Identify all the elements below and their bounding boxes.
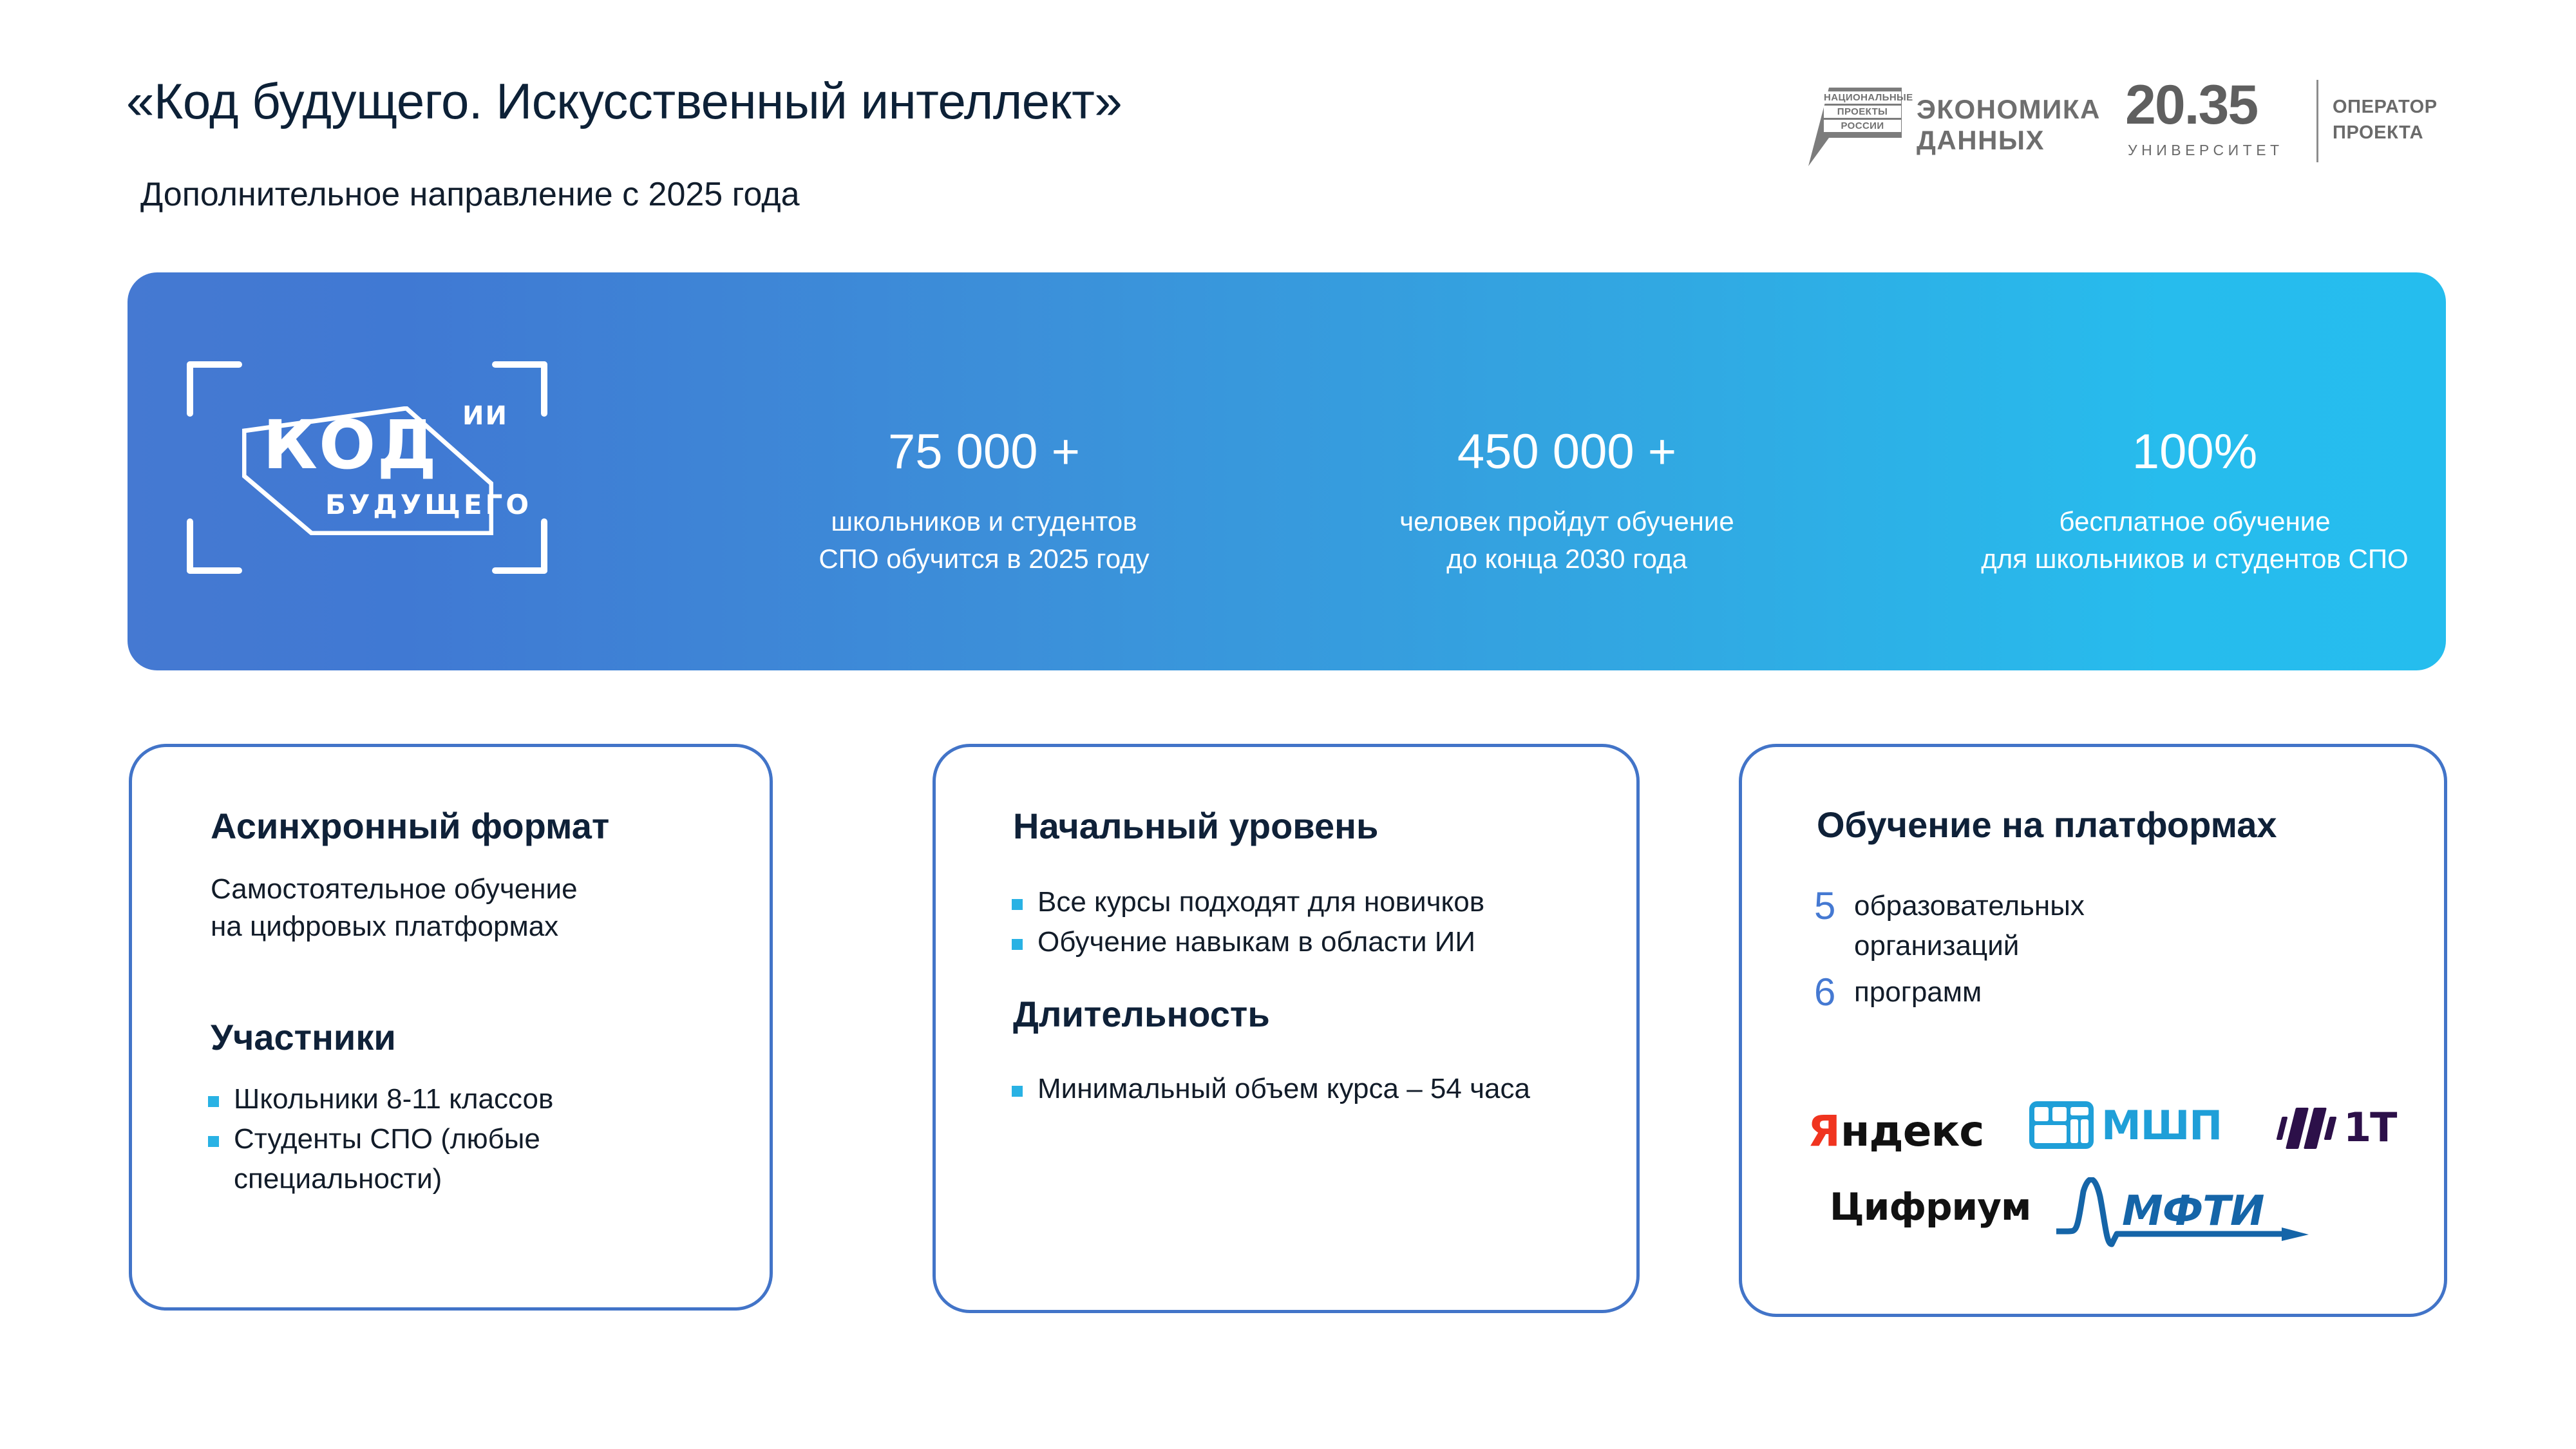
stat-3-desc-line-2: для школьников и студентов СПО bbox=[1905, 540, 2485, 578]
onet-bars-icon bbox=[2278, 1105, 2340, 1150]
np-badge-line-2: ПРОЕКТЫ bbox=[1824, 106, 1901, 118]
count-organizations-number: 5 bbox=[1814, 886, 1854, 926]
partner-logo-mshp: МШП bbox=[2029, 1101, 2222, 1149]
mshp-wordmark: МШП bbox=[2101, 1102, 2222, 1149]
yandex-ya-glyph: Я bbox=[1808, 1106, 1841, 1156]
university-number: 20.35 bbox=[2125, 77, 2257, 133]
page-title: «Код будущего. Искусственный интеллект» bbox=[126, 72, 1122, 131]
card-beginner-level: Начальный уровень Все курсы подходят для… bbox=[933, 744, 1640, 1313]
stat-2-desc-line-1: человек пройдут обучение bbox=[1306, 503, 1828, 540]
logo-text-ii: ИИ bbox=[462, 401, 508, 431]
stat-item-1: 75 000 + школьников и студентов СПО обуч… bbox=[746, 424, 1222, 578]
onet-wordmark: 1Т bbox=[2344, 1104, 2396, 1151]
np-badge-line-3: РОССИИ bbox=[1824, 120, 1901, 132]
card1-heading-participants: Участники bbox=[211, 1016, 396, 1058]
bracket-bottom-left-icon bbox=[187, 518, 242, 574]
card1-paragraph: Самостоятельное обучение на цифровых пла… bbox=[211, 871, 578, 945]
card1-paragraph-line-1: Самостоятельное обучение bbox=[211, 871, 578, 908]
university-2035-logo: 20.35 УНИВЕРСИТЕТ ОПЕРАТОР ПРОЕКТА bbox=[2125, 77, 2409, 174]
stat-1-description: школьников и студентов СПО обучится в 20… bbox=[746, 503, 1222, 578]
card-platforms: Обучение на платформах 5 образовательных… bbox=[1739, 744, 2447, 1317]
count-organizations-label-line-1: образовательных bbox=[1854, 886, 2085, 926]
partner-logo-cifrium: Цифриум bbox=[1830, 1185, 2031, 1229]
stat-item-2: 450 000 + человек пройдут обучение до ко… bbox=[1306, 424, 1828, 578]
card1-participants-list: Школьники 8-11 классов Студенты СПО (люб… bbox=[203, 1079, 731, 1199]
card3-counts: 5 образовательных организаций 6 программ bbox=[1814, 886, 2394, 1019]
mfti-wordmark: МФТИ bbox=[2122, 1188, 2264, 1235]
bracket-bottom-right-icon bbox=[492, 518, 547, 574]
card2-heading-duration: Длительность bbox=[1013, 993, 1270, 1035]
list-item: Обучение навыкам в области ИИ bbox=[1007, 922, 1599, 962]
stat-1-desc-line-1: школьников и студентов bbox=[746, 503, 1222, 540]
stats-banner: КОД ИИ БУДУЩЕГО 75 000 + школьников и ст… bbox=[128, 272, 2446, 670]
page-subtitle: Дополнительное направление с 2025 года bbox=[140, 175, 800, 214]
card3-heading-platforms: Обучение на платформах bbox=[1817, 804, 2277, 846]
list-item: Минимальный объем курса – 54 часа bbox=[1007, 1069, 1586, 1109]
stat-2-desc-line-2: до конца 2030 года bbox=[1306, 540, 1828, 578]
card2-heading-level: Начальный уровень bbox=[1013, 805, 1378, 847]
university-role-line-2: ПРОЕКТА bbox=[2333, 120, 2438, 146]
count-programs-number: 6 bbox=[1814, 972, 1854, 1012]
count-programs-label: программ bbox=[1854, 972, 1982, 1012]
card-asynchronous-format: Асинхронный формат Самостоятельное обуче… bbox=[129, 744, 773, 1311]
yandex-wordmark: ндекс bbox=[1841, 1106, 1984, 1156]
stat-3-description: бесплатное обучение для школьников и сту… bbox=[1905, 503, 2485, 578]
national-projects-logo: НАЦИОНАЛЬНЫЕ ПРОЕКТЫ РОССИИ ЭКОНОМИКА ДА… bbox=[1808, 82, 2079, 166]
stat-3-value: 100% bbox=[1905, 424, 2485, 480]
bracket-top-left-icon bbox=[187, 361, 242, 417]
count-row-organizations: 5 образовательных организаций bbox=[1814, 886, 2394, 966]
count-row-programs: 6 программ bbox=[1814, 972, 2394, 1012]
university-role: ОПЕРАТОР ПРОЕКТА bbox=[2333, 94, 2438, 146]
economy-of-data-wordmark: ЭКОНОМИКА ДАННЫХ bbox=[1917, 94, 2101, 156]
count-organizations-label: образовательных организаций bbox=[1854, 886, 2085, 966]
logo-divider bbox=[2316, 80, 2318, 162]
stat-2-description: человек пройдут обучение до конца 2030 г… bbox=[1306, 503, 1828, 578]
logo-text-kod: КОД bbox=[263, 412, 438, 478]
card2-level-list: Все курсы подходят для новичков Обучение… bbox=[1007, 882, 1599, 962]
np-word-line-2: ДАННЫХ bbox=[1917, 125, 2101, 156]
slide: «Код будущего. Искусственный интеллект» … bbox=[0, 0, 2576, 1449]
stat-item-3: 100% бесплатное обучение для школьников … bbox=[1905, 424, 2485, 578]
partner-logo-yandex: Яндекс bbox=[1808, 1106, 1984, 1156]
national-projects-badges: НАЦИОНАЛЬНЫЕ ПРОЕКТЫ РОССИИ bbox=[1824, 91, 1901, 134]
list-item: Все курсы подходят для новичков bbox=[1007, 882, 1599, 922]
university-word: УНИВЕРСИТЕТ bbox=[2128, 142, 2284, 159]
list-item: Школьники 8-11 классов bbox=[203, 1079, 731, 1119]
stat-3-desc-line-1: бесплатное обучение bbox=[1905, 503, 2485, 540]
card2-duration-list: Минимальный объем курса – 54 часа bbox=[1007, 1069, 1586, 1109]
stat-1-desc-line-2: СПО обучится в 2025 году bbox=[746, 540, 1222, 578]
card1-paragraph-line-2: на цифровых платформах bbox=[211, 908, 578, 945]
partner-logo-mfti: МФТИ bbox=[2055, 1177, 2313, 1255]
kod-budushchego-logo: КОД ИИ БУДУЩЕГО bbox=[187, 361, 547, 574]
list-item: Студенты СПО (любые специальности) bbox=[203, 1119, 731, 1199]
np-word-line-1: ЭКОНОМИКА bbox=[1917, 94, 2101, 125]
partner-logos: Яндекс МШП bbox=[1800, 1095, 2418, 1288]
np-badge-line-1: НАЦИОНАЛЬНЫЕ bbox=[1824, 91, 1901, 104]
mshp-grid-icon bbox=[2029, 1101, 2094, 1149]
stat-1-value: 75 000 + bbox=[746, 424, 1222, 480]
card1-heading-format: Асинхронный формат bbox=[211, 805, 609, 847]
partner-logo-1t: 1Т bbox=[2278, 1104, 2396, 1151]
logo-text-budushchego: БУДУЩЕГО bbox=[325, 489, 532, 520]
university-role-line-1: ОПЕРАТОР bbox=[2333, 94, 2438, 120]
stat-2-value: 450 000 + bbox=[1306, 424, 1828, 480]
count-organizations-label-line-2: организаций bbox=[1854, 926, 2085, 966]
